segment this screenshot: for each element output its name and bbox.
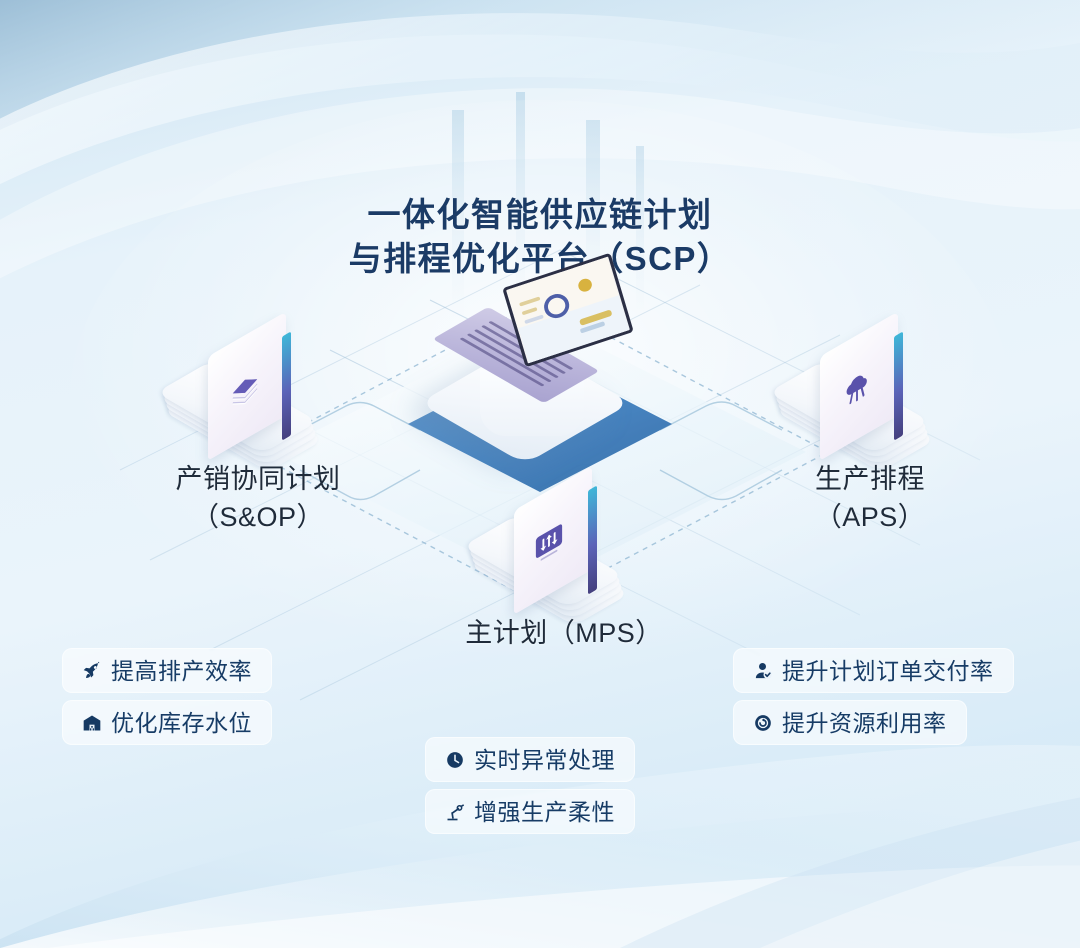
benefit-pill-label: 增强生产柔性	[474, 800, 615, 824]
node-aps[interactable]: 生产排程 （APS）	[790, 338, 950, 498]
node-mps[interactable]: 主计划（MPS）	[484, 492, 644, 652]
node-sop-label: 产销协同计划 （S&OP）	[88, 460, 428, 536]
node-mps-label-line1: 主计划（MPS）	[394, 614, 734, 652]
benefit-pill-resource-utilization[interactable]: 提升资源利用率	[733, 700, 967, 745]
node-mps-label: 主计划（MPS）	[394, 614, 734, 652]
benefit-pill-label: 提升计划订单交付率	[782, 659, 994, 683]
robot-arm-icon	[445, 802, 465, 822]
benefit-pill-optimize-inventory[interactable]: 优化库存水位	[62, 700, 272, 745]
benefit-pill-label: 提高排产效率	[111, 659, 252, 683]
node-aps-label-line1: 生产排程	[700, 460, 1040, 498]
benefit-pill-production-flexibility[interactable]: 增强生产柔性	[425, 789, 635, 834]
benefit-pill-label: 提升资源利用率	[782, 711, 947, 735]
illustration-stage: 一体化智能供应链计划 与排程优化平台（SCP）	[0, 0, 1080, 948]
node-aps-label: 生产排程 （APS）	[700, 460, 1040, 536]
benefit-pill-label: 实时异常处理	[474, 748, 615, 772]
benefit-pill-label: 优化库存水位	[111, 711, 252, 735]
node-sop-label-line2: （S&OP）	[88, 498, 428, 536]
node-sop[interactable]: 产销协同计划 （S&OP）	[178, 338, 338, 498]
scp-platform-hub[interactable]	[418, 262, 678, 482]
node-sop-spine	[282, 331, 291, 440]
user-check-icon	[753, 661, 773, 681]
benefit-pill-order-delivery-rate[interactable]: 提升计划订单交付率	[733, 648, 1014, 693]
node-mps-spine	[588, 485, 597, 594]
benefit-pill-improve-efficiency[interactable]: 提高排产效率	[62, 648, 272, 693]
benefit-pill-realtime-exception[interactable]: 实时异常处理	[425, 737, 635, 782]
node-aps-spine	[894, 331, 903, 440]
rocket-icon	[82, 661, 102, 681]
recycle-icon	[753, 713, 773, 733]
node-sop-label-line1: 产销协同计划	[88, 460, 428, 498]
warehouse-icon	[82, 713, 102, 733]
node-aps-label-line2: （APS）	[700, 498, 1040, 536]
laptop-dashboard-icon	[502, 253, 634, 368]
clock-icon	[445, 750, 465, 770]
